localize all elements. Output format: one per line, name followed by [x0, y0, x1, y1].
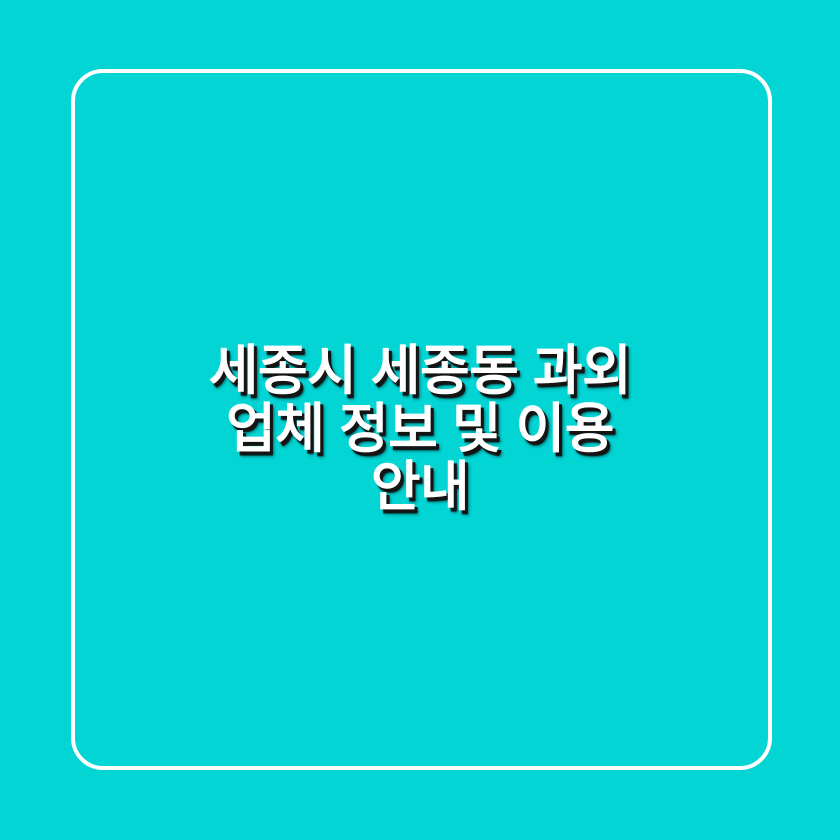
- page-title-line-3: 안내: [80, 458, 760, 516]
- page-title-line-1: 세종시 세종동 과외: [80, 342, 760, 400]
- banner-card: 세종시 세종동 과외 업체 정보 및 이용 안내: [0, 0, 840, 840]
- page-title-line-2: 업체 정보 및 이용: [80, 400, 760, 458]
- headline-block: 세종시 세종동 과외 업체 정보 및 이용 안내: [0, 0, 840, 840]
- page-title: 세종시 세종동 과외 업체 정보 및 이용 안내: [0, 342, 840, 517]
